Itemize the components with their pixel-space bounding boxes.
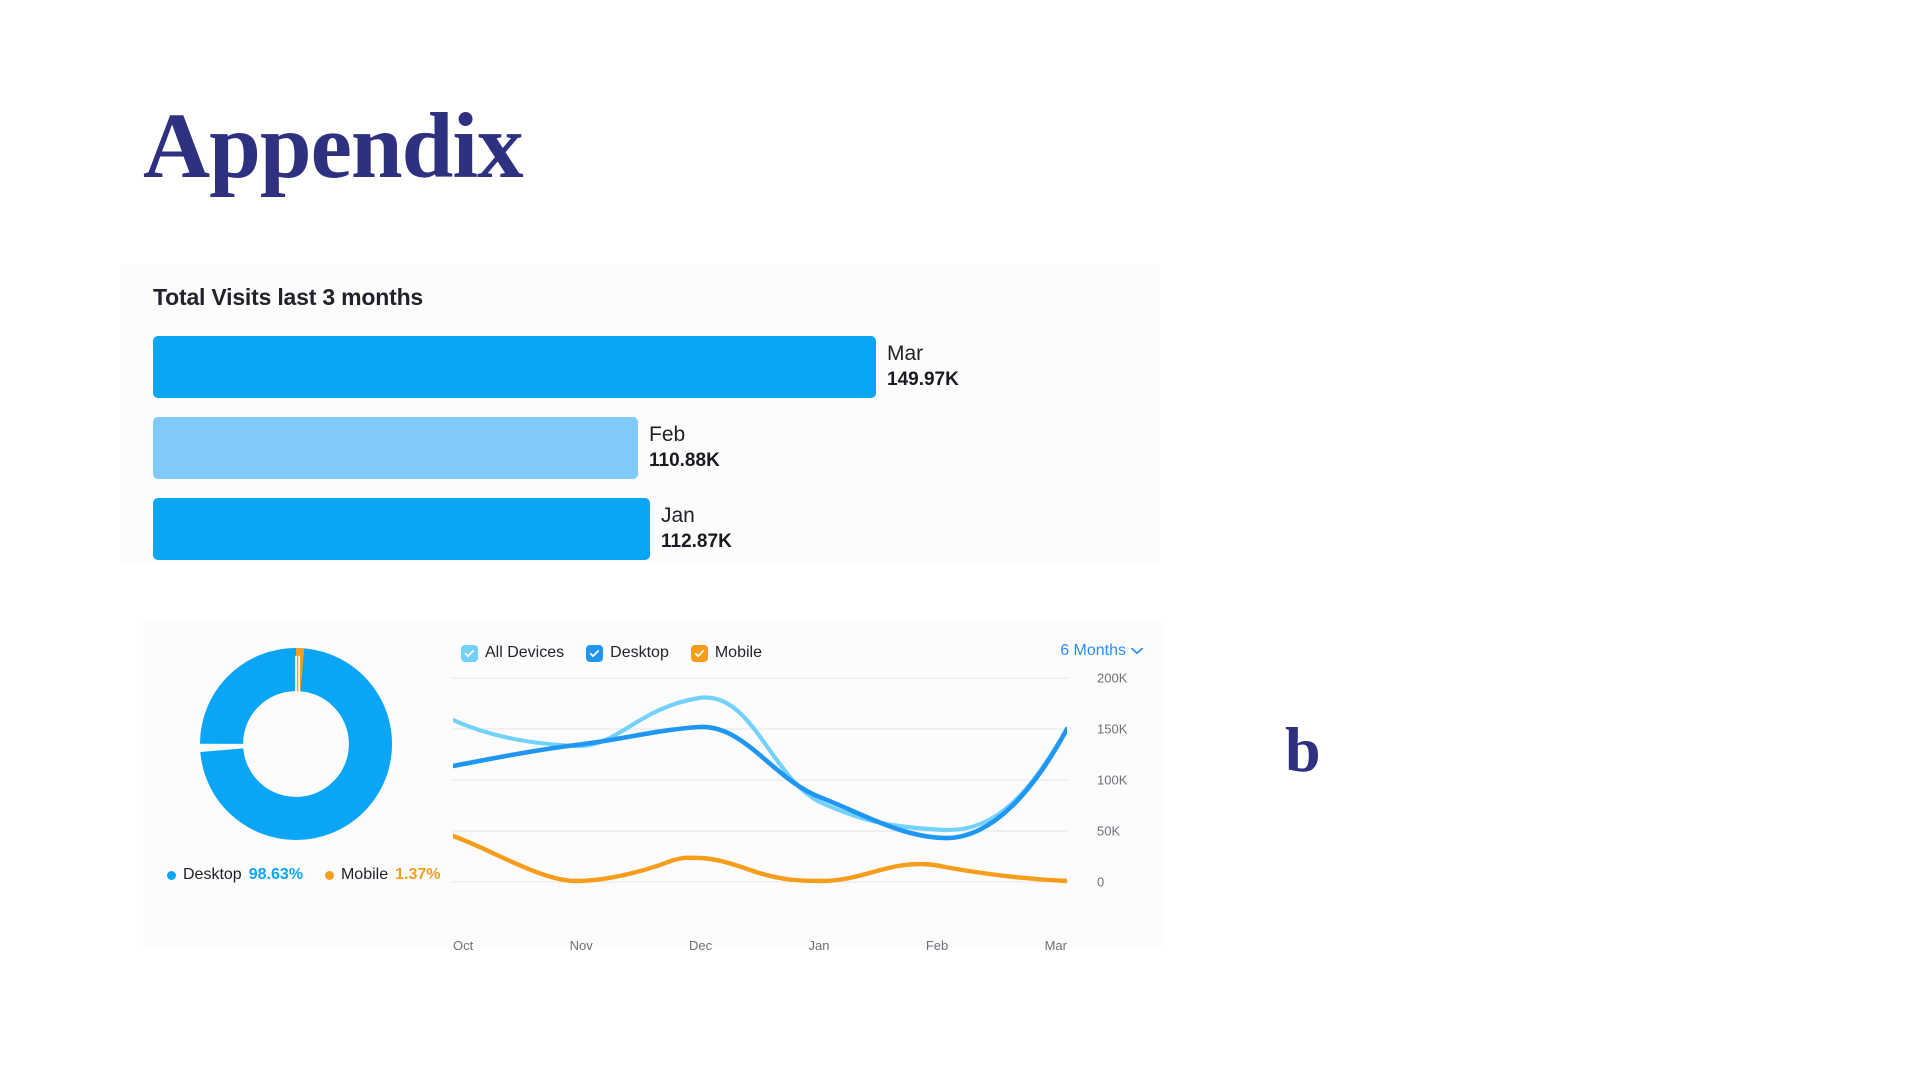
bar-label-group: Mar 149.97K xyxy=(887,341,959,392)
bar-value-label: 110.88K xyxy=(649,449,720,473)
device-share-donut-group: Desktop 98.63% Mobile 1.37% xyxy=(161,638,431,884)
line-chart-svg[interactable] xyxy=(453,670,1067,900)
legend-value: 1.37% xyxy=(395,866,440,884)
checkbox-label: Mobile xyxy=(715,644,762,662)
bar-month-label: Mar xyxy=(887,341,959,368)
x-tick-label: Nov xyxy=(570,938,593,953)
annotation-label-b: b xyxy=(1285,718,1321,782)
series-checkbox-group: All Devices Desktop Mobile xyxy=(461,644,762,662)
bar-row[interactable]: Jan 112.87K xyxy=(153,498,959,560)
bar-fill-feb xyxy=(153,417,638,479)
bar-row[interactable]: Mar 149.97K xyxy=(153,336,959,398)
checkbox-label: All Devices xyxy=(485,644,564,662)
appendix-slide: Appendix a b Total Visits last 3 months … xyxy=(0,0,1920,1080)
bar-label-group: Feb 110.88K xyxy=(649,422,720,473)
visits-line-chart-group: All Devices Desktop Mobile xyxy=(453,636,1143,936)
x-tick-label: Oct xyxy=(453,938,473,953)
series-line-mobile xyxy=(453,836,1067,881)
bar-label-group: Jan 112.87K xyxy=(661,503,732,554)
x-tick-label: Mar xyxy=(1045,938,1067,953)
legend-label: Desktop xyxy=(183,866,242,884)
total-visits-card: Total Visits last 3 months Mar 149.97K F… xyxy=(120,264,1160,564)
checkbox-label: Desktop xyxy=(610,644,669,662)
x-tick-label: Jan xyxy=(809,938,830,953)
legend-item-mobile[interactable]: Mobile 1.37% xyxy=(325,866,441,884)
y-tick-label: 150K xyxy=(1097,722,1143,737)
x-axis: Oct Nov Dec Jan Feb Mar xyxy=(453,938,1067,953)
check-icon xyxy=(586,645,603,662)
y-tick-label: 100K xyxy=(1097,773,1143,788)
y-tick-label: 0 xyxy=(1097,875,1143,890)
chart-toolbar: All Devices Desktop Mobile xyxy=(453,636,1143,670)
legend-item-desktop[interactable]: Desktop 98.63% xyxy=(167,866,303,884)
chevron-down-icon xyxy=(1131,647,1143,655)
x-tick-label: Feb xyxy=(926,938,948,953)
legend-value: 98.63% xyxy=(249,866,303,884)
y-tick-label: 200K xyxy=(1097,671,1143,686)
donut-chart[interactable] xyxy=(198,646,394,842)
x-tick-label: Dec xyxy=(689,938,712,953)
time-range-dropdown[interactable]: 6 Months xyxy=(1060,642,1143,660)
bar-value-label: 149.97K xyxy=(887,368,959,392)
checkbox-all-devices[interactable]: All Devices xyxy=(461,644,564,662)
bar-fill-jan xyxy=(153,498,650,560)
legend-dot-icon xyxy=(167,871,176,880)
bar-value-label: 112.87K xyxy=(661,530,732,554)
legend-label: Mobile xyxy=(341,866,388,884)
bar-fill-mar xyxy=(153,336,876,398)
check-icon xyxy=(461,645,478,662)
devices-analytics-card: Desktop 98.63% Mobile 1.37% xyxy=(143,620,1163,948)
line-plot: 200K 150K 100K 50K 0 Oct Nov Dec Jan Feb… xyxy=(453,670,1143,900)
donut-legend: Desktop 98.63% Mobile 1.37% xyxy=(161,866,431,884)
legend-dot-icon xyxy=(325,871,334,880)
checkbox-mobile[interactable]: Mobile xyxy=(691,644,762,662)
y-tick-label: 50K xyxy=(1097,824,1143,839)
time-range-label: 6 Months xyxy=(1060,642,1126,660)
bar-month-label: Feb xyxy=(649,422,720,449)
bar-row[interactable]: Feb 110.88K xyxy=(153,417,959,479)
checkbox-desktop[interactable]: Desktop xyxy=(586,644,669,662)
check-icon xyxy=(691,645,708,662)
bar-month-label: Jan xyxy=(661,503,732,530)
series-line-all-devices xyxy=(453,697,1067,830)
bar-chart: Mar 149.97K Feb 110.88K Jan 112.87K xyxy=(153,336,959,579)
bar-chart-title: Total Visits last 3 months xyxy=(153,284,423,311)
page-title: Appendix xyxy=(143,100,523,193)
